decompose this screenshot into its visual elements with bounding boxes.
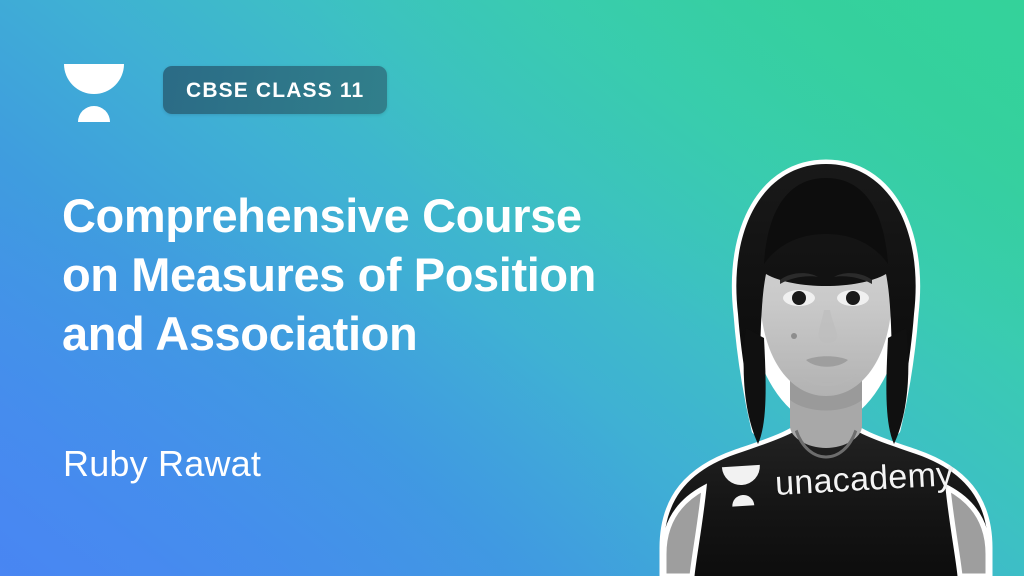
shirt-unacademy-bowl-logo-icon bbox=[721, 461, 764, 508]
unacademy-bowl-logo-icon bbox=[63, 58, 125, 124]
course-title: Comprehensive Course on Measures of Posi… bbox=[62, 186, 662, 363]
course-thumbnail-card: CBSE CLASS 11 Comprehensive Course on Me… bbox=[0, 0, 1024, 576]
instructor-photo bbox=[628, 78, 1024, 576]
shirt-unacademy-wordmark: unacademy bbox=[774, 457, 954, 501]
class-badge-label: CBSE CLASS 11 bbox=[186, 80, 364, 101]
instructor-name: Ruby Rawat bbox=[63, 446, 261, 482]
class-badge: CBSE CLASS 11 bbox=[163, 66, 387, 114]
